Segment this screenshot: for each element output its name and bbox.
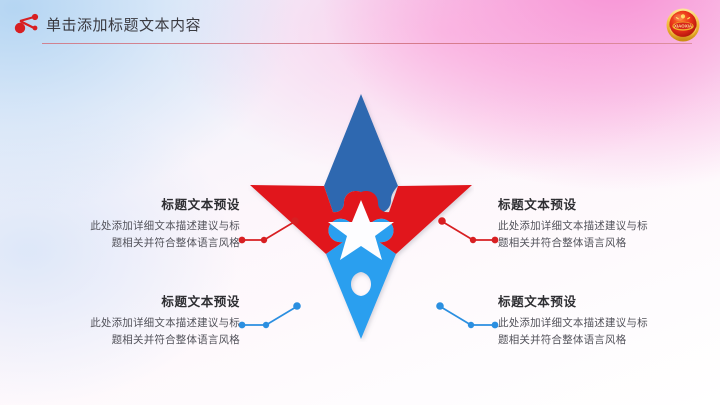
molecule-node-icon <box>14 13 40 37</box>
block-heading: 标题文本预设 <box>498 295 708 310</box>
block-heading: 标题文本预设 <box>30 295 240 310</box>
slide-header: 单击添加标题文本内容 <box>0 0 720 50</box>
block-body-line1: 此处添加详细文本描述建议与标 <box>30 315 240 332</box>
block-heading: 标题文本预设 <box>30 198 240 213</box>
red-gold-emblem-badge: XIAOXIA <box>664 6 702 44</box>
slide-canvas: 单击添加标题文本内容 <box>0 0 720 405</box>
text-block-top-left[interactable]: 标题文本预设 此处添加详细文本描述建议与标 题相关并符合整体语言风格 <box>30 198 240 253</box>
block-body-line2: 题相关并符合整体语言风格 <box>30 235 240 252</box>
connector-bottom-right <box>429 297 499 333</box>
text-block-bottom-left[interactable]: 标题文本预设 此处添加详细文本描述建议与标 题相关并符合整体语言风格 <box>30 295 240 350</box>
text-block-top-right[interactable]: 标题文本预设 此处添加详细文本描述建议与标 题相关并符合整体语言风格 <box>498 198 708 253</box>
title-underline-rule <box>42 43 692 44</box>
page-title: 单击添加标题文本内容 <box>46 14 201 35</box>
block-body-line1: 此处添加详细文本描述建议与标 <box>498 315 708 332</box>
block-body-line2: 题相关并符合整体语言风格 <box>30 332 240 349</box>
connector-top-right <box>433 210 499 246</box>
text-block-bottom-right[interactable]: 标题文本预设 此处添加详细文本描述建议与标 题相关并符合整体语言风格 <box>498 295 708 350</box>
svg-text:XIAOXIA: XIAOXIA <box>674 24 693 29</box>
block-body-line1: 此处添加详细文本描述建议与标 <box>498 218 708 235</box>
connector-top-left <box>238 210 304 246</box>
block-heading: 标题文本预设 <box>498 198 708 213</box>
connector-bottom-left <box>238 297 308 333</box>
block-body-line2: 题相关并符合整体语言风格 <box>498 332 708 349</box>
block-body-line2: 题相关并符合整体语言风格 <box>498 235 708 252</box>
block-body-line1: 此处添加详细文本描述建议与标 <box>30 218 240 235</box>
